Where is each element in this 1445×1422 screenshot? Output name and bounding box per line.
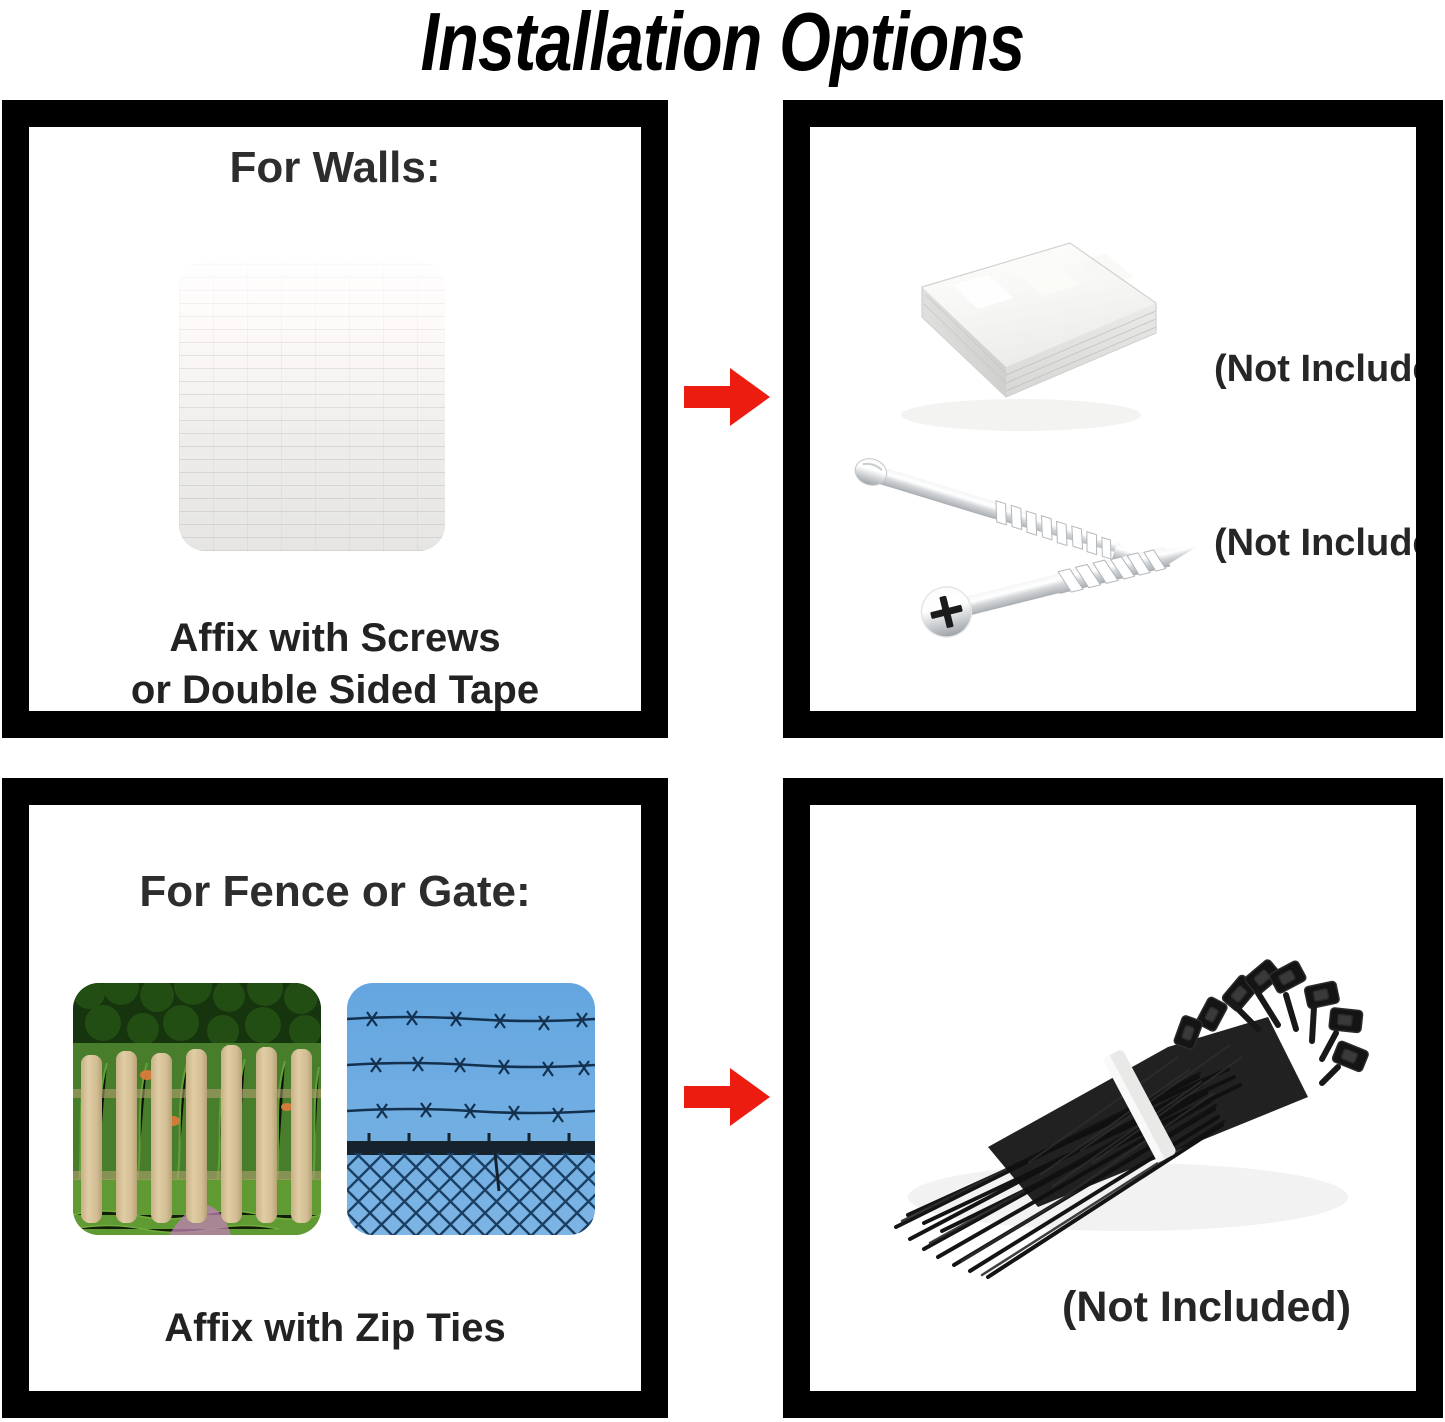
screws-image [834,449,1234,659]
installation-options-infographic: Installation Options For Walls: Affix wi… [0,0,1445,1422]
note-tape-not-included: (Not Included) [1214,348,1416,391]
double-sided-tape-stack-image [856,225,1176,445]
panel-for-walls: For Walls: Affix with Screws or Double S… [2,100,668,738]
wooden-picket-fence-image [73,983,321,1235]
panel-wall-hardware-content: (Not Included) [810,127,1416,711]
panel-for-fence-or-gate-content: For Fence or Gate: [29,805,641,1391]
panel-wall-hardware: (Not Included) [783,100,1443,738]
heading-for-walls: For Walls: [29,143,641,193]
heading-for-fence-or-gate: For Fence or Gate: [29,867,641,917]
page-title: Installation Options [145,0,1301,90]
arrow-walls-to-hardware-icon [684,368,770,426]
white-brick-wall-image [179,261,445,551]
arrow-fence-to-zipties-icon [684,1068,770,1126]
chain-link-barbed-wire-fence-image [347,983,595,1235]
panel-for-fence-or-gate: For Fence or Gate: [2,778,668,1418]
caption-affix-with-screws: Affix with Screws [29,613,641,664]
panel-for-walls-content: For Walls: Affix with Screws or Double S… [29,127,641,711]
black-zip-ties-bundle-image [838,897,1398,1307]
note-zip-ties-not-included: (Not Included) [1062,1283,1351,1332]
panel-zip-ties-content: (Not Included) [810,805,1416,1391]
caption-affix-with-zip-ties: Affix with Zip Ties [29,1303,641,1354]
note-screws-not-included: (Not Included) [1214,522,1416,565]
panel-zip-ties: (Not Included) [783,778,1443,1418]
caption-or-double-sided-tape: or Double Sided Tape [29,665,641,711]
